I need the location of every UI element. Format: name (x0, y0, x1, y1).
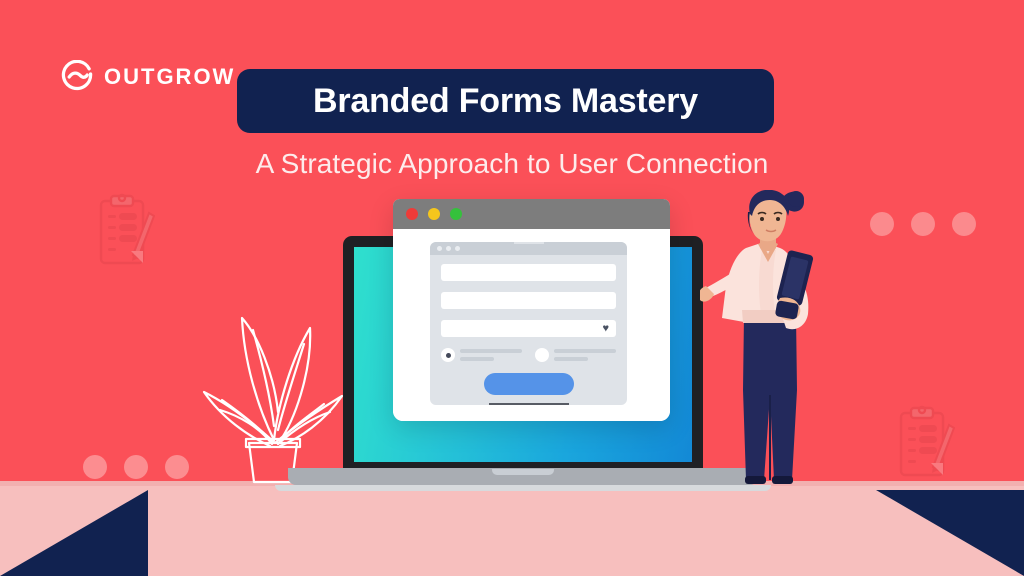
decor-dot (870, 212, 894, 236)
form-card-title-bar (430, 242, 627, 255)
form-submit-row (441, 373, 616, 395)
clipboard-pen-icon-right (893, 405, 955, 488)
corner-triangle-right (876, 490, 1024, 576)
form-input-one[interactable] (441, 264, 616, 281)
form-radio-group (441, 348, 616, 362)
brand-logo[interactable]: OUTGROW (60, 60, 235, 93)
decor-dot (83, 455, 107, 479)
radio-option-two[interactable] (535, 348, 616, 362)
placeholder-line (460, 357, 494, 361)
clipboard-pen-icon-left (93, 193, 155, 276)
window-dot-icon (437, 246, 442, 251)
floor (0, 486, 1024, 576)
form-input-three[interactable]: ♥ (441, 320, 616, 337)
corner-triangle-left (0, 490, 148, 576)
potted-plant-line-art (200, 300, 345, 490)
decor-dot (952, 212, 976, 236)
radio-option-one[interactable] (441, 348, 522, 362)
heart-icon: ♥ (602, 323, 609, 334)
placeholder-line (554, 349, 616, 353)
window-dot-icon (446, 246, 451, 251)
decor-dot (911, 212, 935, 236)
form-card-tab (514, 242, 544, 244)
decor-dot (165, 455, 189, 479)
form-body: ♥ (430, 255, 627, 395)
close-icon[interactable] (406, 208, 418, 220)
placeholder-line (554, 357, 588, 361)
woman-presenting-illustration (700, 190, 840, 495)
page-title: Branded Forms Mastery (313, 82, 698, 121)
minimize-icon[interactable] (428, 208, 440, 220)
submit-button[interactable] (484, 373, 574, 395)
laptop-foot (275, 485, 771, 491)
browser-title-bar (393, 199, 670, 229)
decor-dot (124, 455, 148, 479)
decor-dots-top-right (870, 212, 976, 236)
form-card: ♥ (430, 242, 627, 405)
poster-canvas: ♥ (0, 0, 1024, 576)
radio-dot-icon (446, 353, 451, 358)
laptop-notch (492, 469, 554, 475)
laptop-base (288, 468, 758, 485)
radio-option-two-label (554, 349, 616, 361)
placeholder-line (460, 349, 522, 353)
radio-option-one-label (460, 349, 522, 361)
brand-logo-text: OUTGROW (104, 64, 235, 90)
maximize-icon[interactable] (450, 208, 462, 220)
title-plate: Branded Forms Mastery (237, 69, 774, 133)
form-input-two[interactable] (441, 292, 616, 309)
outgrow-circle-swoosh-icon (60, 60, 93, 93)
radio-selected-icon[interactable] (441, 348, 455, 362)
form-card-shadow (489, 403, 569, 405)
window-dot-icon (455, 246, 460, 251)
page-subtitle: A Strategic Approach to User Connection (0, 148, 1024, 180)
decor-dots-bottom-left (83, 455, 189, 479)
radio-unselected-icon[interactable] (535, 348, 549, 362)
